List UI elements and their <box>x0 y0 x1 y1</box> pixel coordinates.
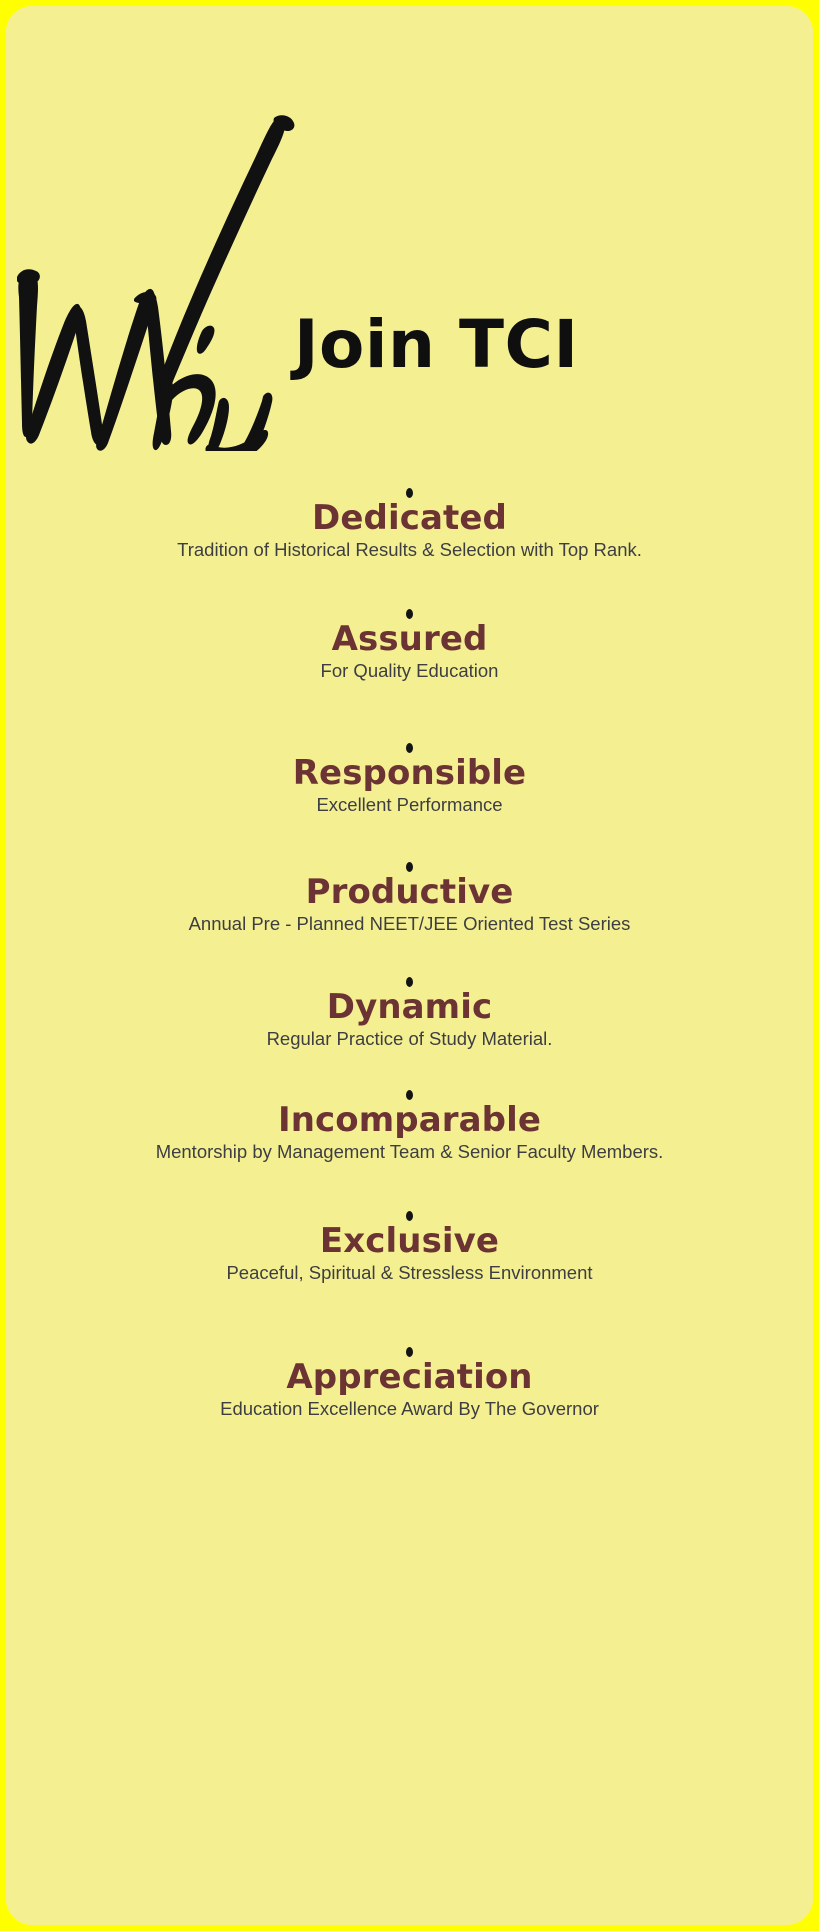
list-item: Dedicated Tradition of Historical Result… <box>6 488 813 562</box>
feature-title: Responsible <box>6 753 813 793</box>
dot-bullet-icon <box>406 488 413 498</box>
feature-description: Education Excellence Award By The Govern… <box>6 1397 813 1421</box>
feature-description: Annual Pre - Planned NEET/JEE Oriented T… <box>6 912 813 936</box>
dot-bullet-icon <box>406 862 413 872</box>
feature-description: Peaceful, Spiritual & Stressless Environ… <box>6 1261 813 1285</box>
feature-title: Appreciation <box>6 1357 813 1397</box>
feature-title: Exclusive <box>6 1221 813 1261</box>
feature-description: For Quality Education <box>6 659 813 683</box>
why-script-wordmark <box>6 101 306 451</box>
list-item: Exclusive Peaceful, Spiritual & Stressle… <box>6 1211 813 1285</box>
feature-title: Productive <box>6 872 813 912</box>
feature-title: Assured <box>6 619 813 659</box>
list-item: Responsible Excellent Performance <box>6 743 813 817</box>
dot-bullet-icon <box>406 1090 413 1100</box>
poster-card: Join TCI Dedicated Tradition of Historic… <box>6 6 813 1925</box>
list-item: Assured For Quality Education <box>6 609 813 683</box>
page-title: Join TCI <box>294 312 579 378</box>
feature-title: Dedicated <box>6 498 813 538</box>
dot-bullet-icon <box>406 1211 413 1221</box>
list-item: Productive Annual Pre - Planned NEET/JEE… <box>6 862 813 936</box>
dot-bullet-icon <box>406 1347 413 1357</box>
list-item: Incomparable Mentorship by Management Te… <box>6 1090 813 1164</box>
feature-description: Regular Practice of Study Material. <box>6 1027 813 1051</box>
feature-title: Incomparable <box>6 1100 813 1140</box>
dot-bullet-icon <box>406 609 413 619</box>
list-item: Appreciation Education Excellence Award … <box>6 1347 813 1421</box>
feature-description: Mentorship by Management Team & Senior F… <box>6 1140 813 1164</box>
poster-header: Join TCI <box>6 6 813 476</box>
list-item: Dynamic Regular Practice of Study Materi… <box>6 977 813 1051</box>
feature-description: Excellent Performance <box>6 793 813 817</box>
feature-description: Tradition of Historical Results & Select… <box>6 538 813 562</box>
dot-bullet-icon <box>406 743 413 753</box>
poster-root: Join TCI Dedicated Tradition of Historic… <box>0 0 819 1931</box>
dot-bullet-icon <box>406 977 413 987</box>
feature-title: Dynamic <box>6 987 813 1027</box>
